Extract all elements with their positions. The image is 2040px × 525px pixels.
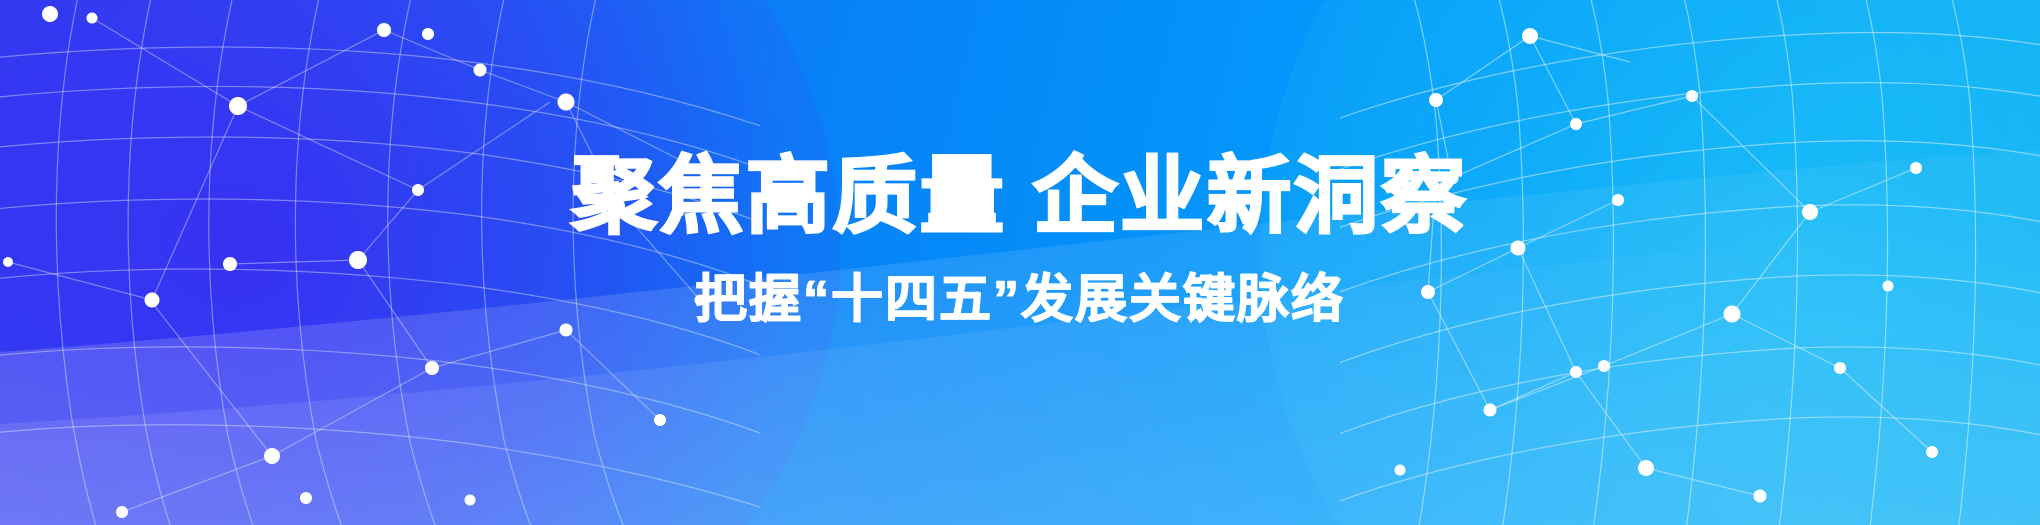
banner-subheadline: 把握“十四五”发展关键脉络	[695, 270, 1345, 330]
background-glow-right	[1260, 0, 2040, 525]
banner-text-block: 聚焦高质量 企业新洞察 把握“十四五”发展关键脉络	[0, 0, 2040, 525]
banner-headline: 聚焦高质量 企业新洞察	[572, 148, 1468, 244]
promo-banner: 聚焦高质量 企业新洞察 把握“十四五”发展关键脉络	[0, 0, 2040, 525]
network-globe-left	[0, 0, 760, 525]
background-glow-left	[0, 0, 840, 525]
diagonal-wave-band	[0, 0, 2040, 525]
network-globe-right	[1340, 0, 2040, 525]
